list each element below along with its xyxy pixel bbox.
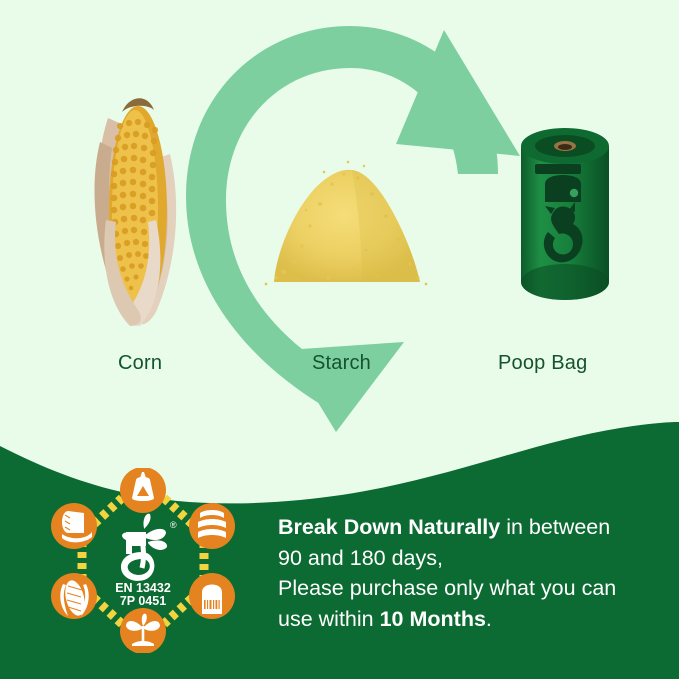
message-line-1-bold: Break Down Naturally bbox=[278, 515, 500, 539]
seedling-compostable-logo: ® bbox=[121, 514, 177, 581]
certification-standard-line2: 7P 0451 bbox=[120, 594, 166, 608]
message-line-4-pre: use within bbox=[278, 607, 380, 631]
step-label-corn: Corn bbox=[118, 352, 162, 375]
poop-bag-roll-icon bbox=[515, 122, 615, 307]
bag-roll-icon bbox=[51, 503, 97, 549]
step-label-poop-bag: Poop Bag bbox=[498, 352, 587, 375]
corn-ear-icon bbox=[51, 573, 97, 619]
message-line-4: use within 10 Months. bbox=[278, 604, 668, 635]
packaged-bag-barcode-icon bbox=[189, 573, 235, 619]
starch-powder-icon bbox=[258, 150, 438, 290]
message-line-2: 90 and 180 days, bbox=[278, 543, 668, 574]
sprout-seedling-icon bbox=[120, 608, 166, 653]
step-label-starch: Starch bbox=[312, 352, 371, 375]
compost-sack-icon bbox=[120, 468, 166, 513]
registered-trademark-mark: ® bbox=[170, 520, 177, 530]
marketing-message: Break Down Naturally in between 90 and 1… bbox=[278, 512, 668, 634]
compostable-certification-badge: ® EN 13432 7P 0451 bbox=[48, 468, 238, 653]
message-line-4-bold: 10 Months bbox=[380, 607, 486, 631]
message-line-3: Please purchase only what you can bbox=[278, 573, 668, 604]
certification-standard-line1: EN 13432 bbox=[115, 581, 171, 595]
compost-layers-icon bbox=[189, 503, 235, 549]
message-line-1: Break Down Naturally in between bbox=[278, 512, 668, 543]
message-line-1-rest: in between bbox=[500, 515, 610, 539]
message-line-4-post: . bbox=[486, 607, 492, 631]
infographic-canvas: Corn Starch Poop Bag bbox=[0, 0, 679, 679]
corn-cob-icon bbox=[78, 70, 198, 330]
